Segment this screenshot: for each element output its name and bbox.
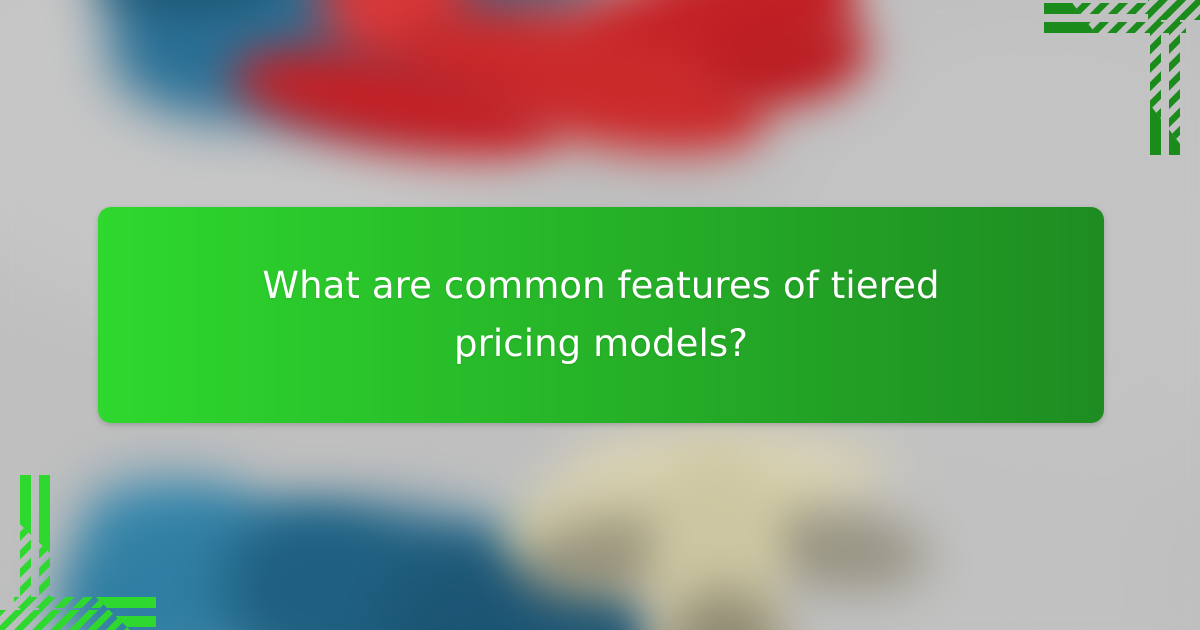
question-card: What are common features of tiered prici… [0,0,1200,630]
question-text: What are common features of tiered prici… [221,257,981,373]
question-banner: What are common features of tiered prici… [98,207,1104,423]
